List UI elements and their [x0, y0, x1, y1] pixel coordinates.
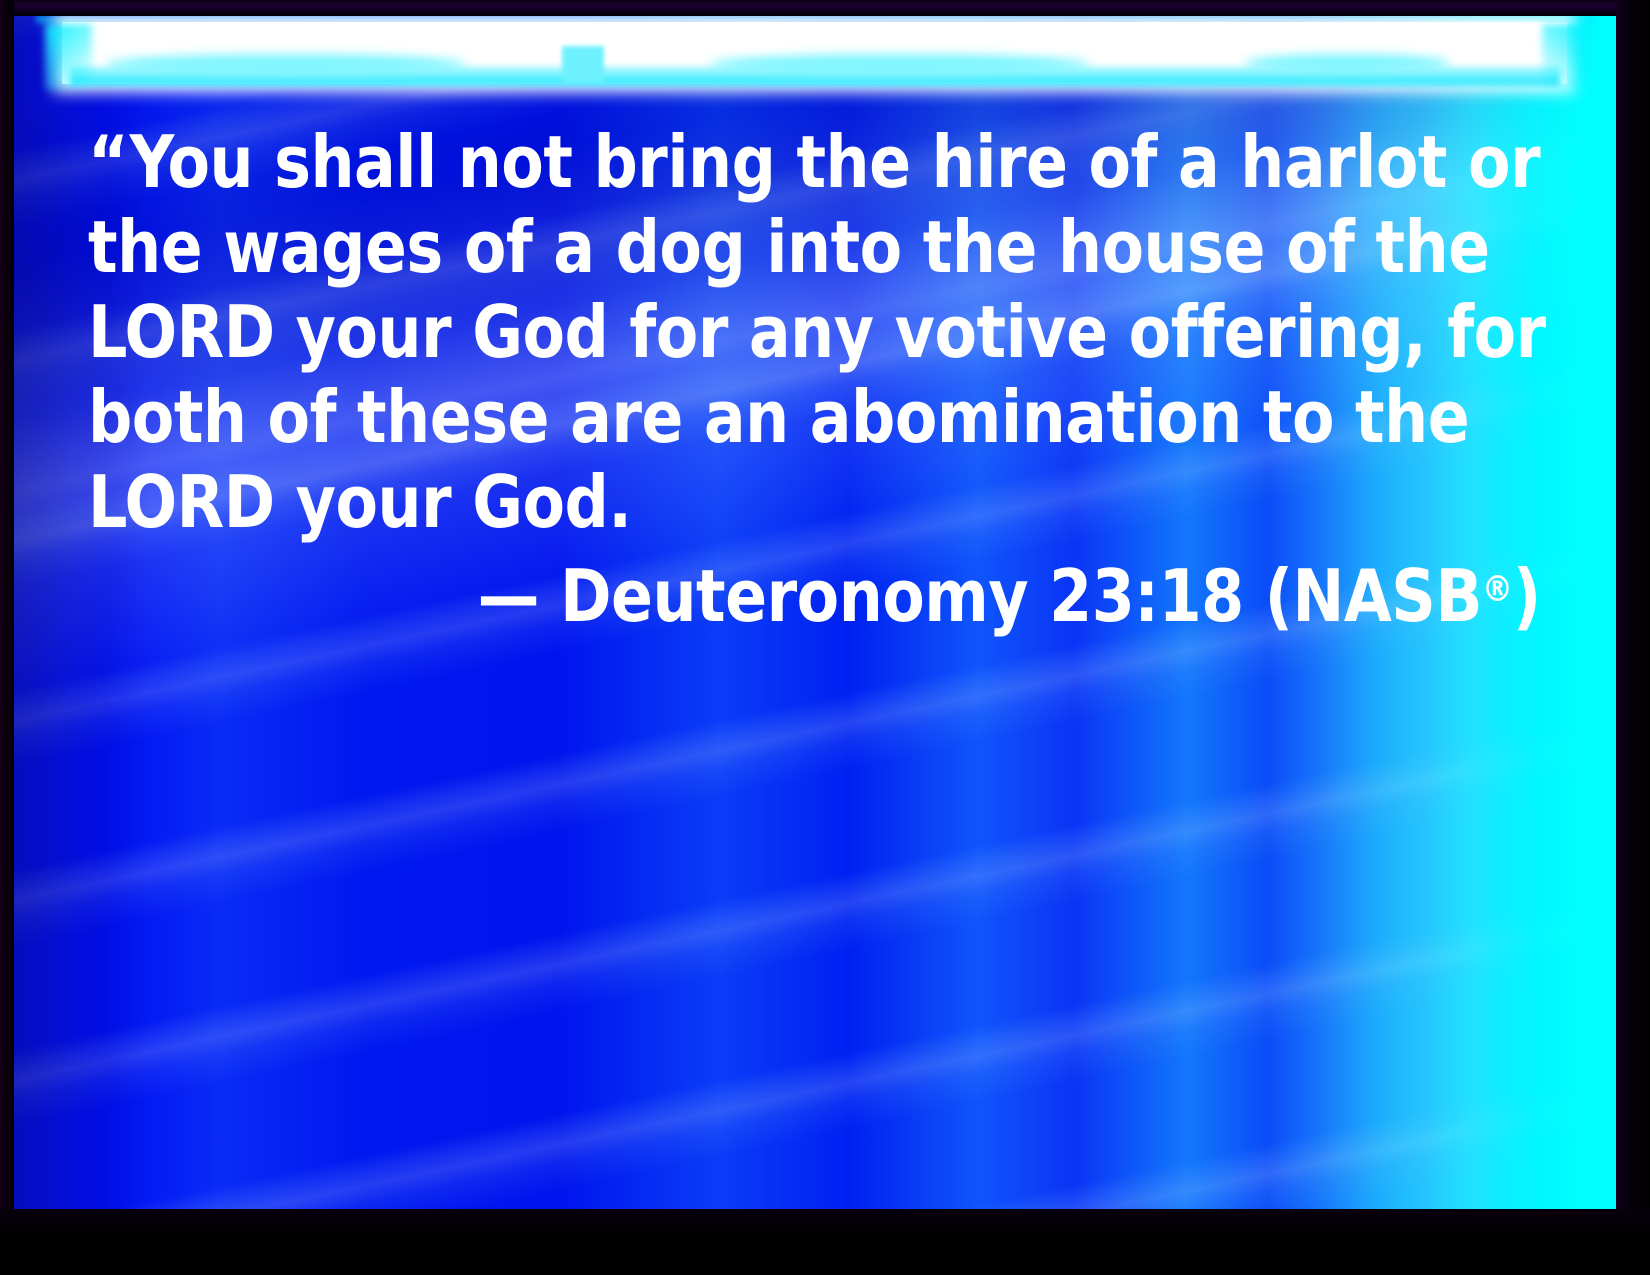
bezel-top	[0, 0, 1650, 16]
verse-line-3: LORD your God for any votive offering, f…	[88, 290, 1454, 375]
slide-canvas: “You shall not bring the hire of a harlo…	[10, 8, 1622, 1215]
banner-cyan-blob-right	[1245, 54, 1450, 72]
verse-line-5: LORD your God.	[88, 460, 1454, 545]
banner-cyan-blob-center	[710, 54, 1090, 74]
bezel-right	[1616, 0, 1650, 1275]
attribution-open-paren: (	[1265, 554, 1293, 638]
banner-cyan-edge-right	[1542, 24, 1588, 90]
bezel-left	[0, 0, 14, 1275]
attribution-reference: 23:18	[1028, 554, 1265, 638]
slide-frame: “You shall not bring the hire of a harlo…	[0, 0, 1650, 1275]
verse-text-block: “You shall not bring the hire of a harlo…	[88, 120, 1518, 639]
verse-attribution: — Deuteronomy 23:18 (NASB®)	[88, 547, 1454, 639]
verse-line-1: “You shall not bring the hire of a harlo…	[88, 120, 1454, 205]
bezel-bottom	[0, 1209, 1650, 1275]
banner-cyan-edge-left	[46, 24, 92, 90]
verse-line-2: the wages of a dog into the house of the	[88, 205, 1454, 290]
verse-line-4: both of these are an abomination to the	[88, 375, 1454, 460]
banner-cyan-notch	[562, 46, 604, 82]
attribution-close-paren: )	[1513, 554, 1541, 638]
attribution-em-dash: —	[478, 554, 560, 638]
attribution-book: Deuteronomy	[560, 554, 1028, 638]
top-banner	[10, 8, 1622, 128]
registered-trademark-icon: ®	[1482, 569, 1513, 610]
attribution-translation: NASB	[1293, 554, 1482, 638]
banner-cyan-blob-left	[106, 54, 466, 74]
